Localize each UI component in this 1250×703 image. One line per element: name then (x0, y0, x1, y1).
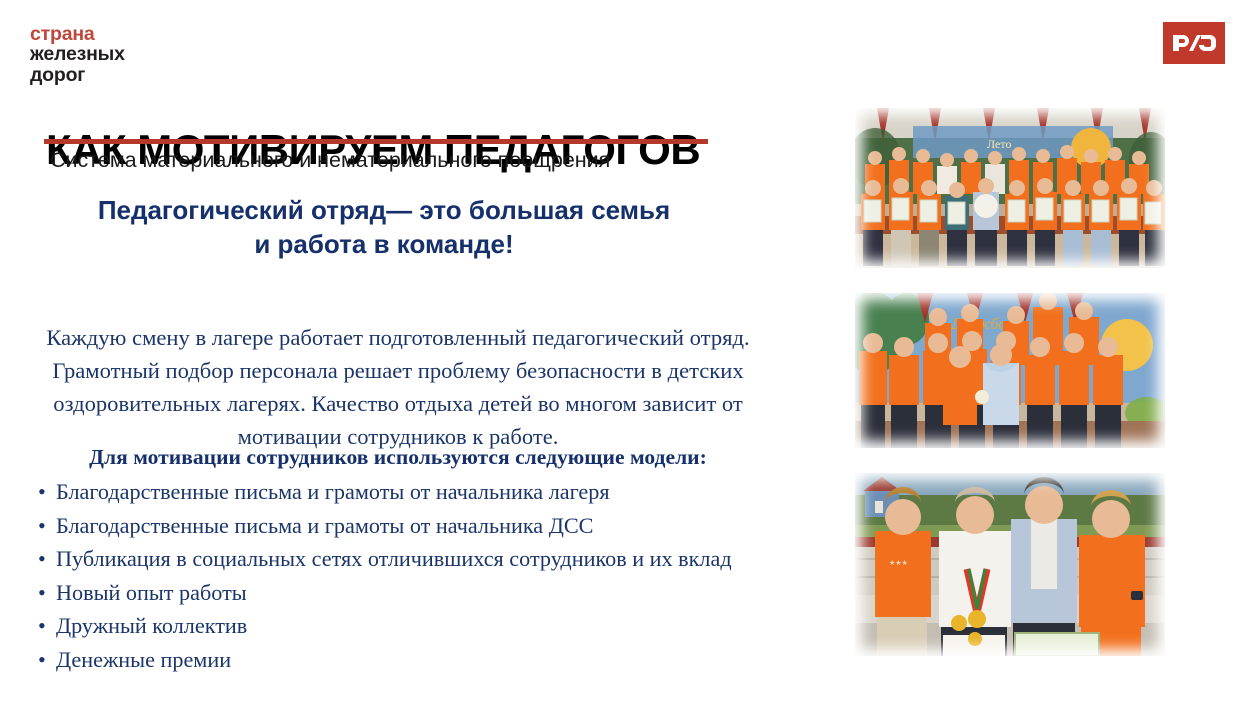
list-item: Публикация в социальных сетях отличивших… (38, 544, 758, 574)
models-list: Благодарственные письма и грамоты от нач… (38, 477, 758, 674)
list-item: Благодарственные письма и грамоты от нач… (38, 511, 758, 541)
headline: Педагогический отряд— это большая семья … (28, 194, 740, 262)
rzd-mark-icon (1172, 33, 1216, 53)
brand-logo-line-3: дорог (30, 65, 125, 85)
rzd-logo (1163, 22, 1225, 64)
list-item: Новый опыт работы (38, 578, 758, 608)
photo-staff-awards-canvas: ★★★ (855, 473, 1165, 656)
photo-team-group-canvas: Дружба (855, 293, 1165, 448)
brand-logo-line-2: железных (30, 44, 125, 64)
models-heading: Для мотивации сотрудников используются с… (38, 444, 758, 471)
photo-award-ceremony: Лето (855, 108, 1165, 268)
photo-award-ceremony-canvas: Лето (855, 108, 1165, 268)
list-item: Денежные премии (38, 645, 758, 675)
brand-logo: страна железных дорог (30, 24, 125, 85)
list-item: Благодарственные письма и грамоты от нач… (38, 477, 758, 507)
page-subtitle: Система материального и нематериального … (50, 148, 610, 173)
headline-line-2: и работа в команде! (28, 228, 740, 262)
body-paragraph: Каждую смену в лагере работает подготовл… (38, 321, 758, 454)
list-item: Дружный коллектив (38, 611, 758, 641)
photo-staff-awards: ★★★ (855, 473, 1165, 656)
title-divider (44, 139, 708, 144)
svg-text:Лето: Лето (987, 137, 1011, 151)
headline-line-1: Педагогический отряд— это большая семья (28, 194, 740, 228)
svg-text:★★★: ★★★ (889, 559, 908, 567)
photo-team-group: Дружба (855, 293, 1165, 448)
brand-logo-line-1: страна (30, 24, 125, 44)
motivation-models-block: Для мотивации сотрудников используются с… (38, 444, 758, 678)
